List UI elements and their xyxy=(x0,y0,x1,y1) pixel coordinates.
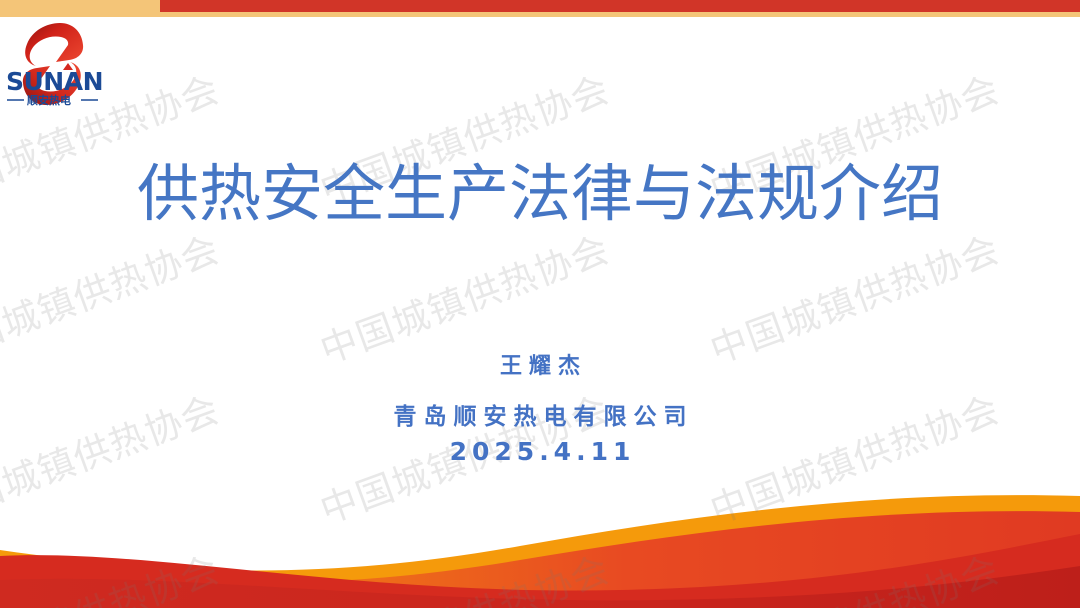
top-bar xyxy=(0,0,1080,17)
presenter-block: 王耀杰 青岛顺安热电有限公司 2025.4.11 xyxy=(0,348,1080,466)
top-bar-red-band xyxy=(160,0,1080,12)
presenter-name: 王耀杰 xyxy=(0,348,1080,380)
bottom-wave-decoration xyxy=(0,468,1080,608)
title-block: 供热安全生产法律与法规介绍 xyxy=(0,160,1080,228)
page-title: 供热安全生产法律与法规介绍 xyxy=(0,160,1080,228)
sunan-logo-svg: SUNAN 顺安热电 xyxy=(6,20,102,108)
wave-svg xyxy=(0,468,1080,608)
presentation-date: 2025.4.11 xyxy=(0,437,1080,466)
sunan-wordmark: SUNAN xyxy=(6,63,102,96)
sunan-logo: SUNAN 顺安热电 xyxy=(6,20,102,108)
svg-text:SUNAN: SUNAN xyxy=(6,67,102,96)
presentation-slide: 中国城镇供热协会中国城镇供热协会中国城镇供热协会中国城镇供热协会中国城镇供热协会… xyxy=(0,0,1080,608)
presenter-company: 青岛顺安热电有限公司 xyxy=(0,397,1080,431)
svg-text:顺安热电: 顺安热电 xyxy=(27,93,71,107)
